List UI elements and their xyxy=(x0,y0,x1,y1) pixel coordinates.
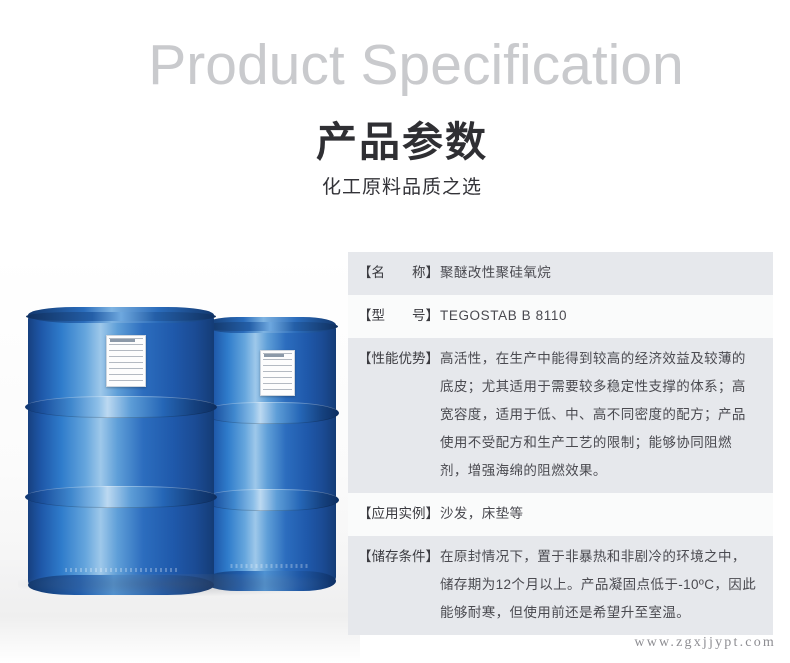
drum-label-heading xyxy=(110,339,135,342)
drum-emboss-text xyxy=(65,568,177,572)
drum-top-lip xyxy=(202,322,338,331)
spec-key-storage: 【储存条件】 xyxy=(348,543,440,571)
drum-ground-shadow xyxy=(18,574,328,596)
drum-rib-upper xyxy=(25,396,217,418)
drum-label xyxy=(106,335,146,387)
spec-value-applications: 沙发，床垫等 xyxy=(440,500,773,528)
drum-label-lines xyxy=(109,338,143,384)
spec-value-model: TEGOSTAB B 8110 xyxy=(440,302,773,330)
spec-key-model: 【型 号】 xyxy=(348,302,440,330)
spec-key-advantages: 【性能优势】 xyxy=(348,345,440,373)
page-subtitle: 化工原料品质之选 xyxy=(0,175,790,201)
drum-label-lines xyxy=(263,353,292,393)
table-row: 【名 称】 聚醚改性聚硅氧烷 xyxy=(348,252,773,295)
table-row: 【储存条件】 在原封情况下，置于非暴热和非剧冷的环境之中，储存期为12个月以上。… xyxy=(348,536,773,635)
page-watermark-title: Product Specification xyxy=(0,34,790,96)
site-url-watermark: www.zgxjjypt.com xyxy=(634,635,776,651)
drum-label xyxy=(260,350,295,396)
table-row: 【性能优势】 高活性，在生产中能得到较高的经济效益及较薄的底皮；尤其适用于需要较… xyxy=(348,338,773,493)
page-root: Product Specification 产品参数 化工原料品质之选 xyxy=(0,0,790,663)
drum-rib-lower xyxy=(201,489,339,511)
product-image-drums xyxy=(6,306,340,596)
spec-value-advantages: 高活性，在生产中能得到较高的经济效益及较薄的底皮；尤其适用于需要较多稳定性支撑的… xyxy=(440,345,773,485)
specification-table: 【名 称】 聚醚改性聚硅氧烷 【型 号】 TEGOSTAB B 8110 【性能… xyxy=(348,252,773,635)
drum-top-lip xyxy=(26,312,216,321)
drum-emboss-text xyxy=(230,564,309,568)
drum-rib-upper xyxy=(201,402,339,424)
table-row: 【应用实例】 沙发，床垫等 xyxy=(348,493,773,536)
spec-value-storage: 在原封情况下，置于非暴热和非剧冷的环境之中，储存期为12个月以上。产品凝固点低于… xyxy=(440,543,773,627)
drum-secondary xyxy=(204,324,336,582)
spec-value-name: 聚醚改性聚硅氧烷 xyxy=(440,259,773,287)
page-title: 产品参数 xyxy=(0,118,790,166)
drum-rib-lower xyxy=(25,486,217,508)
drum-primary xyxy=(28,314,214,586)
spec-key-applications: 【应用实例】 xyxy=(348,500,440,528)
spec-key-name: 【名 称】 xyxy=(348,259,440,287)
table-row: 【型 号】 TEGOSTAB B 8110 xyxy=(348,295,773,338)
drum-label-heading xyxy=(264,354,284,357)
